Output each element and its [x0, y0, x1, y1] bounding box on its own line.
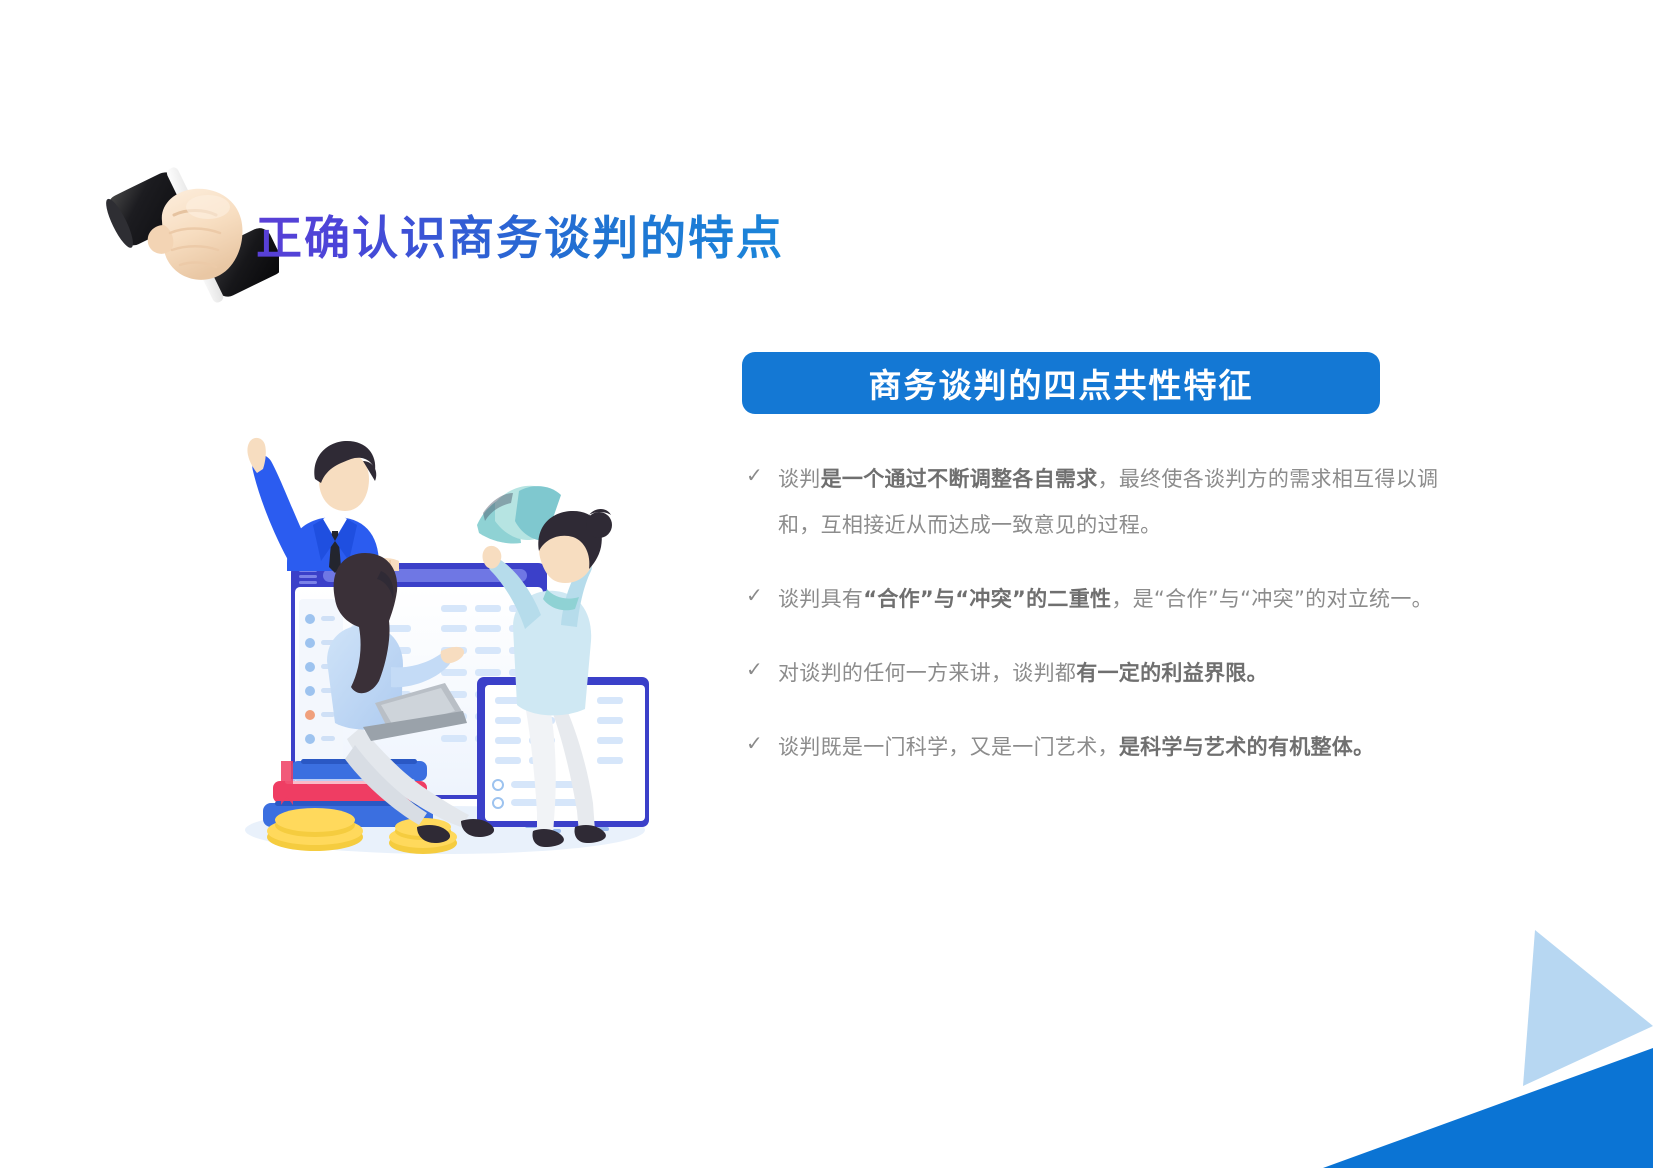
- bullet-2-segment-2: ，是“合作”与“冲突”的对立统一。: [1111, 587, 1433, 611]
- list-item: ✓ 对谈判的任何一方来讲，谈判都有一定的利益界限。: [742, 650, 1442, 696]
- bullet-text-4: 谈判既是一门科学，又是一门艺术，是科学与艺术的有机整体。: [778, 724, 1442, 770]
- bullet-2-segment-1: “合作”与“冲突”的二重性: [863, 587, 1111, 611]
- illustration-person-man-suit: [247, 438, 399, 573]
- bullet-text-1: 谈判是一个通过不断调整各自需求，最终使各谈判方的需求相互得以调和，互相接近从而达…: [778, 456, 1442, 548]
- corner-decoration: [1323, 908, 1653, 1168]
- feature-bullet-list: ✓ 谈判是一个通过不断调整各自需求，最终使各谈判方的需求相互得以调和，互相接近从…: [742, 456, 1442, 770]
- bullet-2-segment-0: 谈判具有: [778, 587, 863, 611]
- corner-solid-wedge: [1323, 1048, 1653, 1168]
- hand-holding-baton-icon: [104, 155, 279, 305]
- check-icon: ✓: [742, 456, 778, 496]
- list-item: ✓ 谈判是一个通过不断调整各自需求，最终使各谈判方的需求相互得以调和，互相接近从…: [742, 456, 1442, 548]
- bullet-3-segment-1: 有一定的利益界限。: [1076, 661, 1268, 685]
- check-icon: ✓: [742, 576, 778, 616]
- bullet-1-segment-0: 谈判: [778, 467, 821, 491]
- feature-banner-label: 商务谈判的四点共性特征: [869, 359, 1254, 407]
- check-icon: ✓: [742, 650, 778, 690]
- business-negotiation-illustration: [195, 375, 695, 865]
- bullet-4-segment-0: 谈判既是一门科学，又是一门艺术，: [778, 735, 1119, 759]
- list-item: ✓ 谈判既是一门科学，又是一门艺术，是科学与艺术的有机整体。: [742, 724, 1442, 770]
- page-title: 正确认识商务谈判的特点: [256, 202, 784, 268]
- check-icon: ✓: [742, 724, 778, 764]
- feature-banner: 商务谈判的四点共性特征: [742, 352, 1380, 414]
- bullet-4-segment-1: 是科学与艺术的有机整体。: [1119, 735, 1375, 759]
- slide-canvas: 正确认识商务谈判的特点: [0, 0, 1653, 1168]
- slide-title-block: 正确认识商务谈判的特点: [104, 150, 824, 310]
- bullet-1-segment-1: 是一个通过不断调整各自需求: [821, 467, 1098, 491]
- list-item: ✓ 谈判具有“合作”与“冲突”的二重性，是“合作”与“冲突”的对立统一。: [742, 576, 1442, 622]
- bullet-text-3: 对谈判的任何一方来讲，谈判都有一定的利益界限。: [778, 650, 1442, 696]
- bullet-3-segment-0: 对谈判的任何一方来讲，谈判都: [778, 661, 1076, 685]
- corner-light-triangle: [1523, 930, 1653, 1086]
- bullet-text-2: 谈判具有“合作”与“冲突”的二重性，是“合作”与“冲突”的对立统一。: [778, 576, 1442, 622]
- feature-panel: 商务谈判的四点共性特征 ✓ 谈判是一个通过不断调整各自需求，最终使各谈判方的需求…: [742, 352, 1442, 798]
